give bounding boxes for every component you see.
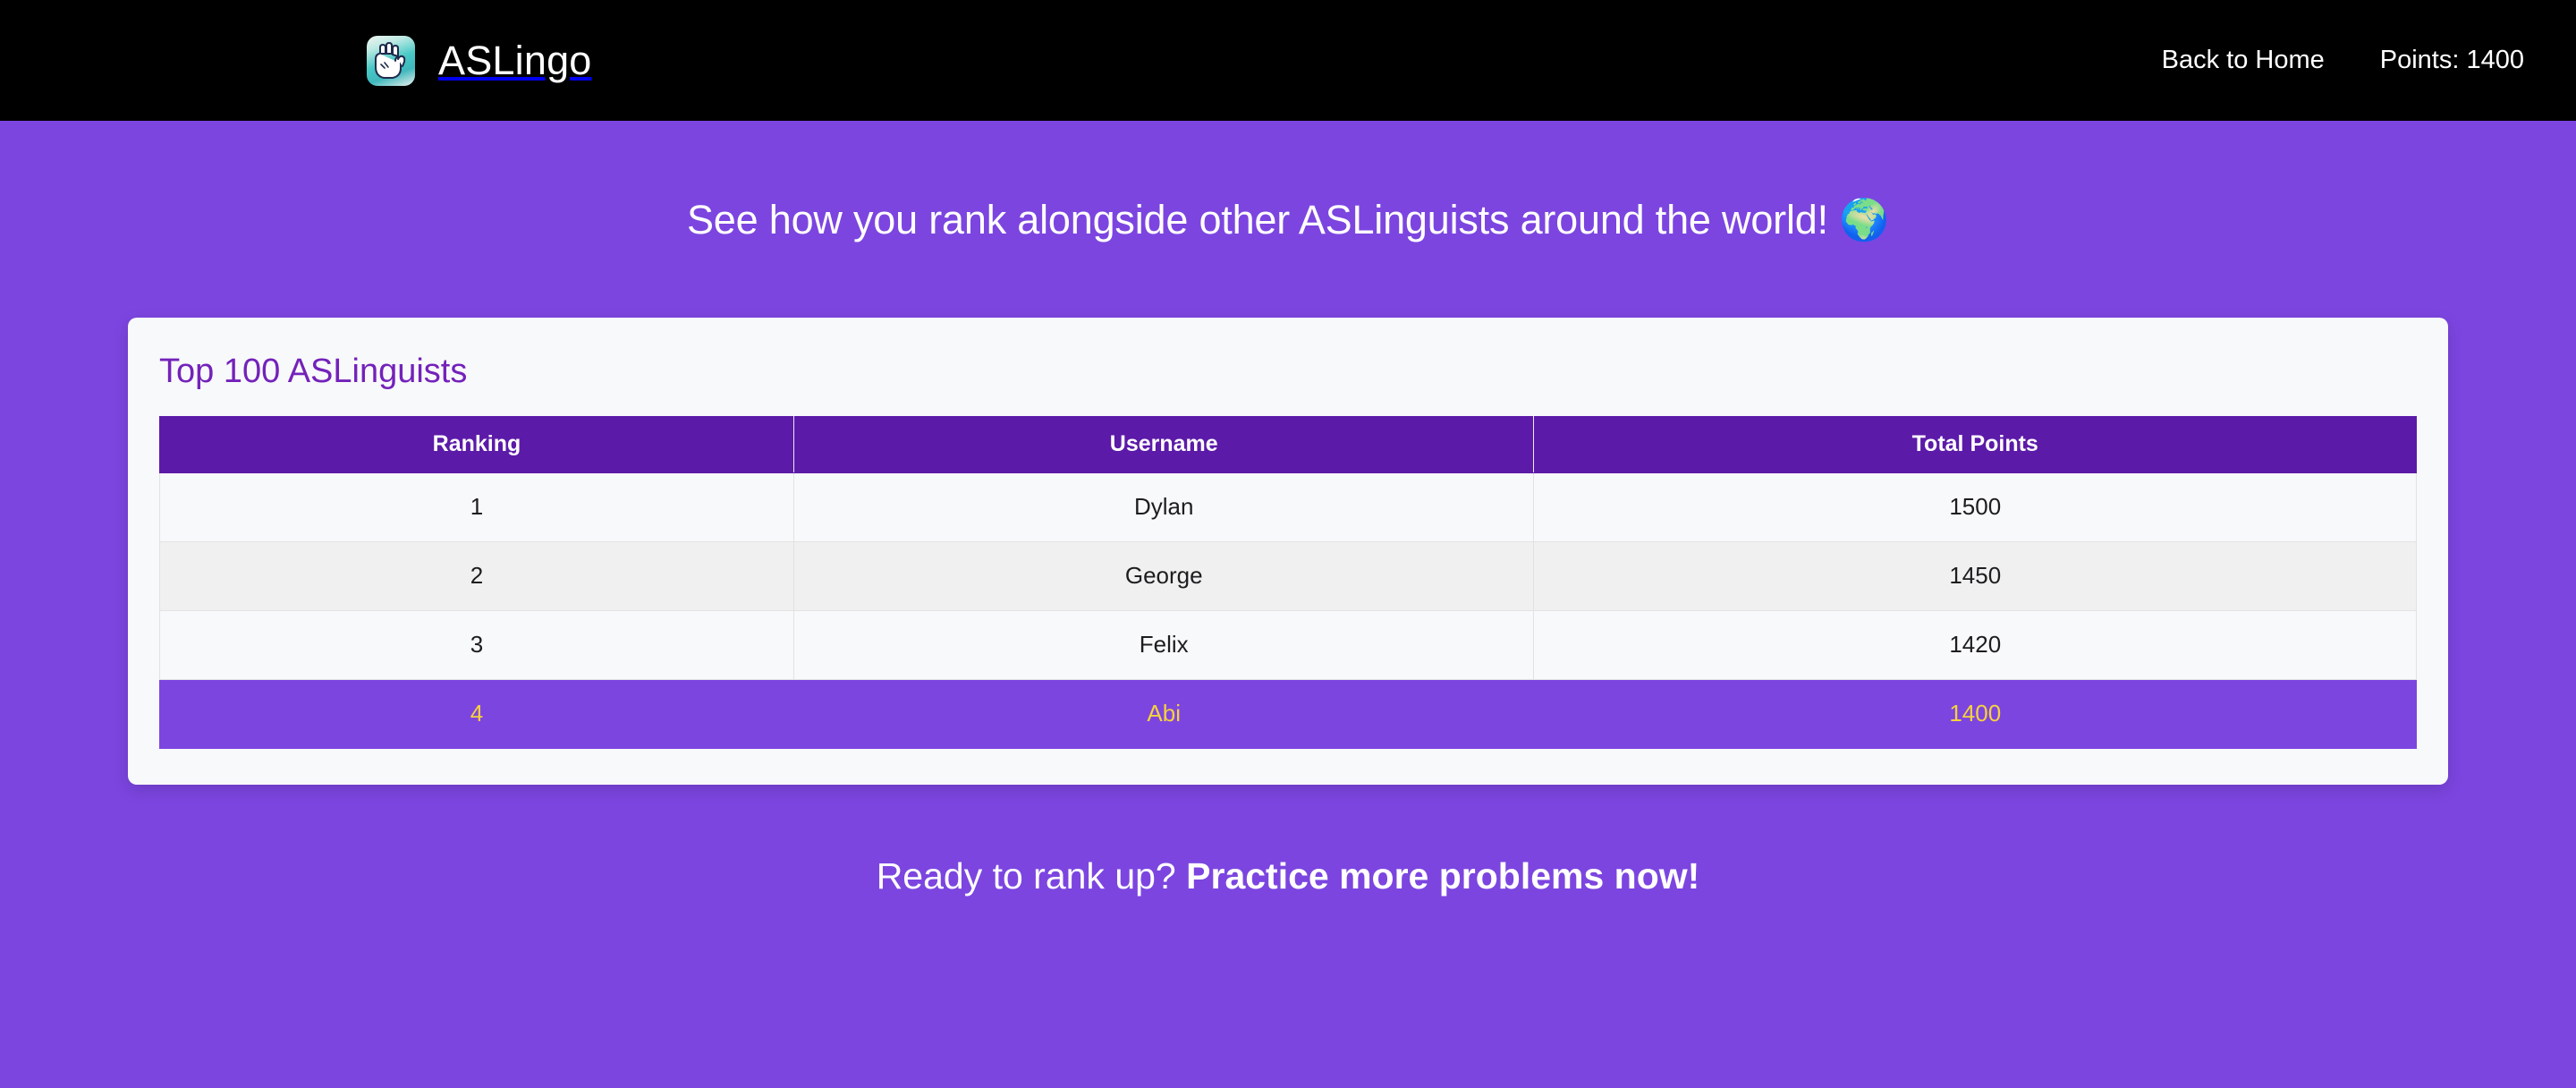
brand-name: ASLingo <box>438 40 592 81</box>
table-body: 1 Dylan 1500 2 George 1450 3 Felix 1420 … <box>160 472 2417 748</box>
card-title: Top 100 ASLinguists <box>159 343 2417 416</box>
page-body: See how you rank alongside other ASLingu… <box>0 121 2576 1088</box>
cell-ranking: 4 <box>160 679 794 748</box>
column-header-username[interactable]: Username <box>793 416 1534 472</box>
nav-link-back-to-home[interactable]: Back to Home <box>2162 47 2325 73</box>
nav-links: Back to Home Points: 1400 <box>2162 47 2524 73</box>
cell-ranking: 1 <box>160 472 794 541</box>
cell-ranking: 2 <box>160 541 794 610</box>
asl-hand-icon <box>367 36 415 86</box>
cell-ranking: 3 <box>160 610 794 679</box>
cell-username: Felix <box>793 610 1534 679</box>
top-navbar: ASLingo Back to Home Points: 1400 <box>0 0 2576 121</box>
cell-username: Dylan <box>793 472 1534 541</box>
leaderboard-card: Top 100 ASLinguists Ranking Username Tot… <box>128 318 2448 785</box>
cta-practice-link[interactable]: Practice more problems now! <box>1186 855 1699 897</box>
column-header-total-points[interactable]: Total Points <box>1534 416 2417 472</box>
cell-points: 1500 <box>1534 472 2417 541</box>
cell-username: George <box>793 541 1534 610</box>
page-headline: See how you rank alongside other ASLingu… <box>0 121 2576 244</box>
table-header: Ranking Username Total Points <box>160 416 2417 472</box>
table-row[interactable]: 3 Felix 1420 <box>160 610 2417 679</box>
leaderboard-table: Ranking Username Total Points 1 Dylan 15… <box>159 416 2417 749</box>
table-row[interactable]: 1 Dylan 1500 <box>160 472 2417 541</box>
cell-points: 1450 <box>1534 541 2417 610</box>
nav-link-points[interactable]: Points: 1400 <box>2380 47 2524 73</box>
cell-username: Abi <box>793 679 1534 748</box>
table-row[interactable]: 2 George 1450 <box>160 541 2417 610</box>
column-header-ranking[interactable]: Ranking <box>160 416 794 472</box>
brand-home-link[interactable]: ASLingo <box>367 36 592 86</box>
cta-prefix: Ready to rank up? <box>877 855 1186 897</box>
table-header-row: Ranking Username Total Points <box>160 416 2417 472</box>
cell-points: 1400 <box>1534 679 2417 748</box>
cell-points: 1420 <box>1534 610 2417 679</box>
cta-section: Ready to rank up? Practice more problems… <box>0 854 2576 898</box>
table-row-current-user[interactable]: 4 Abi 1400 <box>160 679 2417 748</box>
